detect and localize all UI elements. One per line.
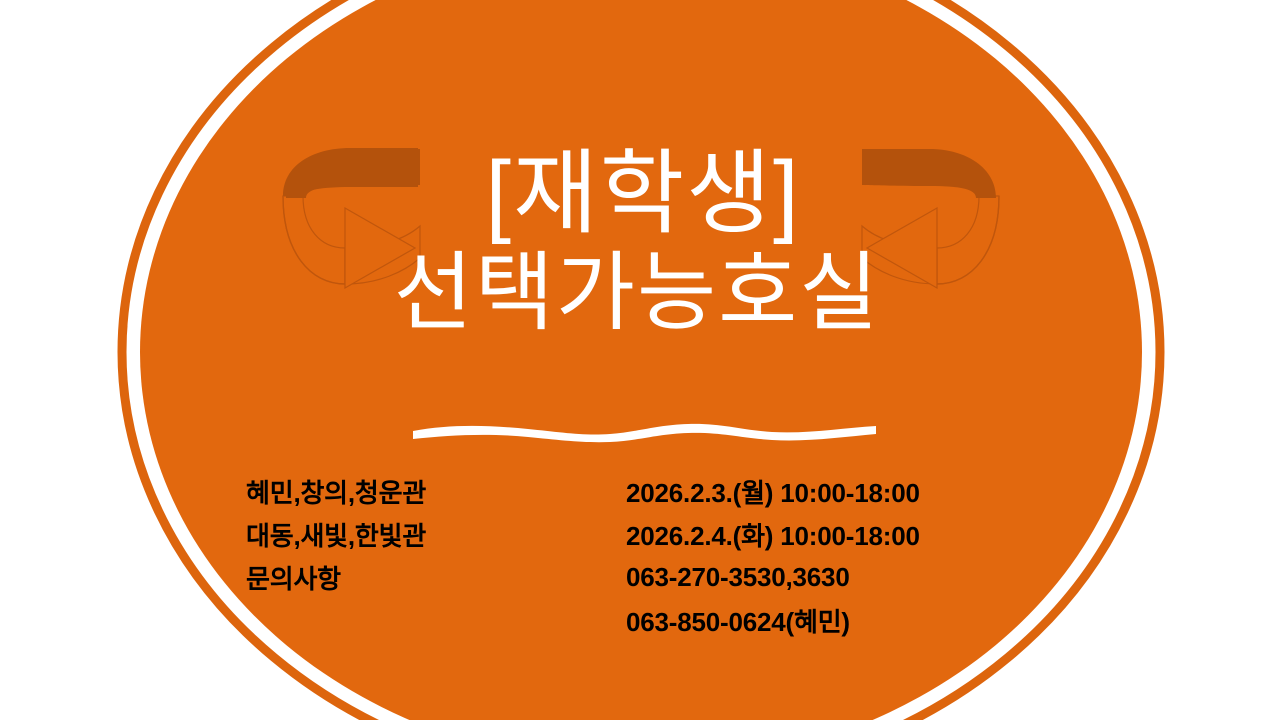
contact-label: 문의사항 (246, 556, 626, 599)
page-title: [재학생] 선택가능호실 (0, 148, 1280, 336)
contact-label-empty (246, 599, 626, 642)
contact-phone-secondary: 063-850-0624(혜민) (626, 599, 1006, 642)
title-line-bracketed-audience: [재학생] (6, 148, 1280, 240)
table-row: 대동,새빛,한빛관 2026.2.4.(화) 10:00-18:00 (246, 513, 1006, 556)
contact-phone-primary: 063-270-3530,3630 (626, 556, 1006, 599)
title-line-subject: 선택가능호실 (0, 250, 1280, 336)
slide-canvas: [재학생] 선택가능호실 혜민,창의,청운관 2026.2.3.(월) 10:0… (0, 0, 1280, 720)
table-row: 063-850-0624(혜민) (246, 599, 1006, 642)
building-group-label: 대동,새빛,한빛관 (246, 513, 626, 556)
wavy-underline-icon (410, 414, 880, 448)
schedule-value: 2026.2.3.(월) 10:00-18:00 (626, 470, 1006, 513)
schedule-info-table: 혜민,창의,청운관 2026.2.3.(월) 10:00-18:00 대동,새빛… (246, 470, 1006, 642)
table-row: 혜민,창의,청운관 2026.2.3.(월) 10:00-18:00 (246, 470, 1006, 513)
schedule-value: 2026.2.4.(화) 10:00-18:00 (626, 513, 1006, 556)
table-row: 문의사항 063-270-3530,3630 (246, 556, 1006, 599)
building-group-label: 혜민,창의,청운관 (246, 470, 626, 513)
